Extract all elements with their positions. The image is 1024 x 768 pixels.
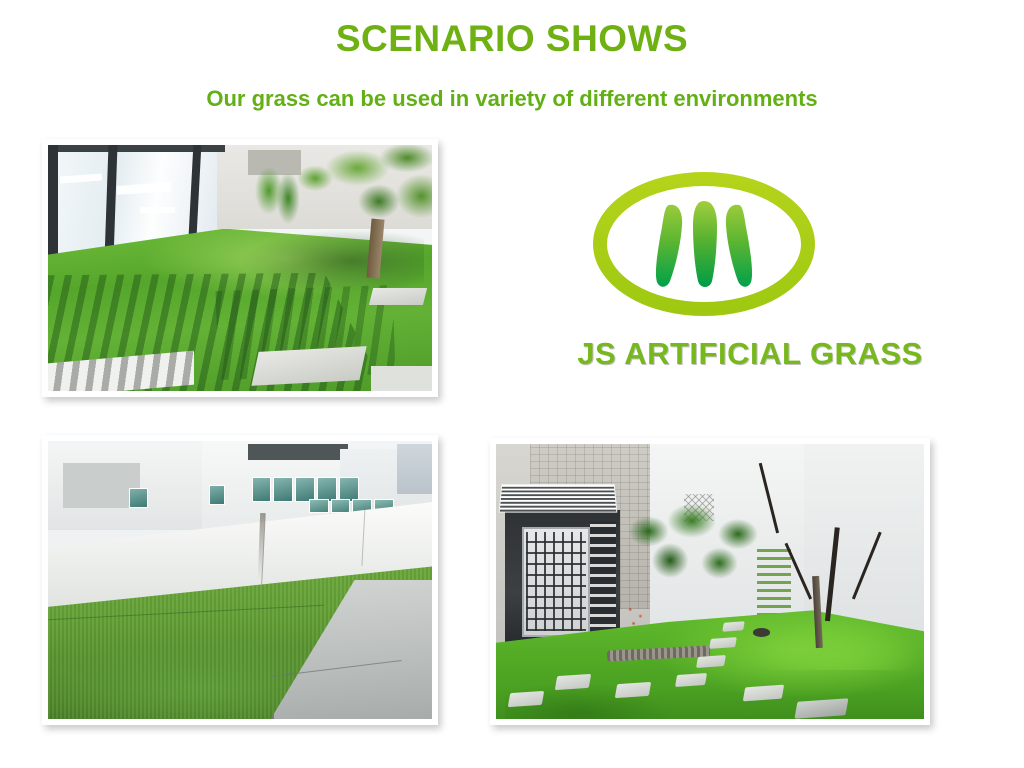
page-subtitle: Our grass can be used in variety of diff… [0,86,1024,112]
photo-white-wall-yard [42,435,438,725]
window [209,485,224,504]
stepping-stone [615,682,652,698]
slide-root: SCENARIO SHOWS Our grass can be used in … [0,0,1024,768]
window-row-upper [252,477,360,502]
window [129,488,148,507]
logo-blade-left [656,205,682,287]
stepping-stone [696,655,726,668]
logo-blade-right [726,205,752,287]
logo-blade-centre [693,201,717,287]
stepping-stone [709,637,736,649]
company-logo: JS ARTIFICIAL GRASS [560,170,940,390]
dark-roof [248,444,348,461]
stepping-stone [508,690,545,706]
garden-rock [753,628,770,636]
logo-svg [588,170,820,318]
page-title: SCENARIO SHOWS [0,18,1024,60]
glass-reflection [140,207,175,213]
stepping-stone [675,673,707,687]
photo-image [48,145,432,391]
striped-awning [499,484,617,513]
photo-house-entrance-garden [490,438,930,725]
photo-courtyard-with-glass-doors [42,139,438,397]
stepping-stone [555,674,592,690]
stepping-stone [743,685,784,701]
distant-tower [397,444,432,494]
grass-blades-ellipse-icon [588,170,820,318]
photo-image [48,441,432,719]
red-flowers [620,604,654,632]
stone-paver [252,346,367,386]
lawn-shadow [505,659,685,720]
photo-image [496,444,924,719]
brand-name: JS ARTIFICIAL GRASS [560,336,940,372]
door-grille [526,532,586,631]
stepping-stone [794,698,848,718]
stone-paver [368,288,426,305]
door-side-panel [590,521,616,637]
tree-foliage [255,145,432,273]
stone-paver [371,366,432,391]
